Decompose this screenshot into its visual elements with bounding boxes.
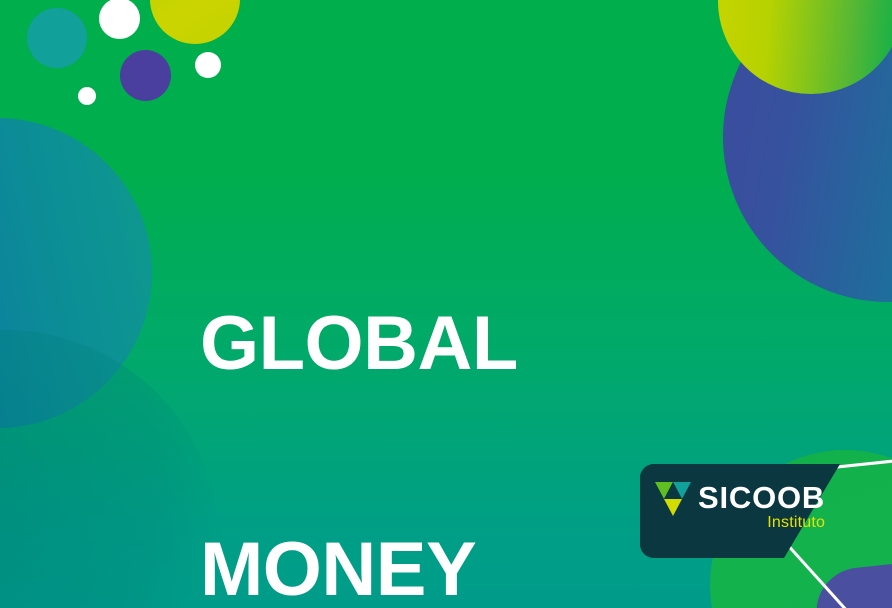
page-title: GLOBAL MONEY WEEK bbox=[200, 156, 518, 608]
sicoob-triangle-icon bbox=[655, 482, 691, 516]
white-circle-large bbox=[99, 0, 140, 39]
promo-banner: GLOBAL MONEY WEEK SICOOB Instituto bbox=[0, 0, 892, 608]
logo[interactable]: SICOOB Instituto bbox=[655, 482, 825, 531]
logo-wordmark: SICOOB Instituto bbox=[698, 482, 825, 531]
purple-circle bbox=[120, 50, 171, 101]
headline-line-2: MONEY bbox=[200, 532, 518, 607]
white-circle-medium bbox=[195, 52, 221, 78]
white-circle-small bbox=[78, 87, 96, 105]
teal-circle bbox=[27, 8, 87, 68]
logo-subbrand: Instituto bbox=[767, 515, 825, 531]
logo-brand: SICOOB bbox=[698, 482, 825, 513]
headline-line-1: GLOBAL bbox=[200, 306, 518, 381]
